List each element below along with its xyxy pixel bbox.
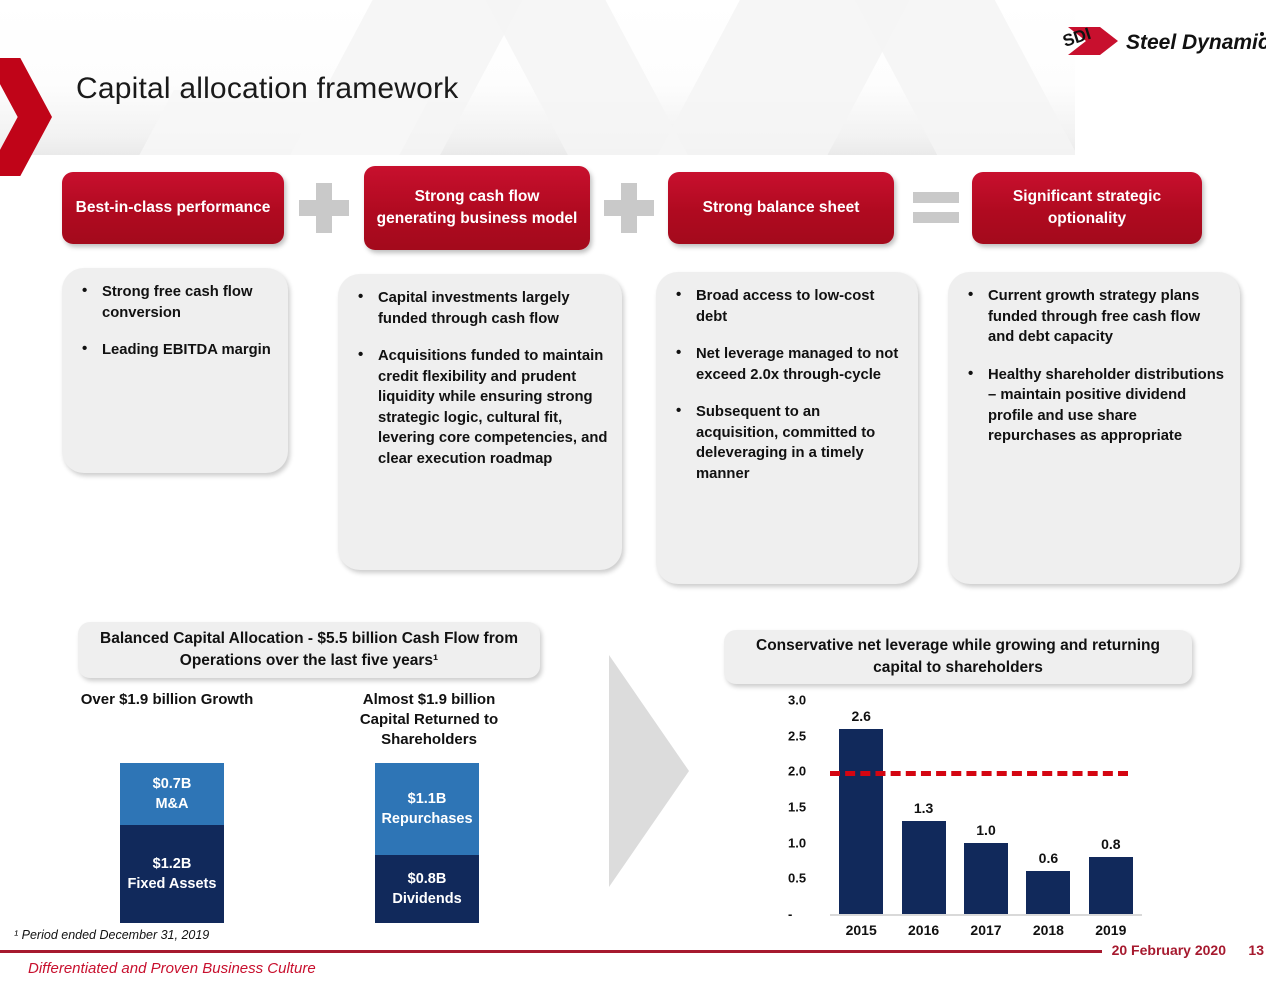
chart-y-tick-label: 2.0 — [788, 764, 806, 779]
stack-label: M&A — [155, 796, 188, 812]
page-title: Capital allocation framework — [76, 72, 458, 106]
list-item: Leading EBITDA margin — [76, 340, 276, 361]
bullet-list-1: Strong free cash flow conversion Leading… — [76, 282, 276, 361]
chart-bar-value: 0.8 — [1081, 836, 1141, 852]
framework-box-best-in-class[interactable]: Best-in-class performance — [62, 172, 284, 244]
bullet-card-2: Capital investments largely funded throu… — [338, 274, 622, 570]
bullet-list-4: Current growth strategy plans funded thr… — [962, 286, 1228, 447]
bullet-card-4: Current growth strategy plans funded thr… — [948, 272, 1240, 584]
chart-x-axis — [830, 914, 1142, 916]
chart-bar-value: 2.6 — [831, 708, 891, 724]
stack-amount: $0.8B — [408, 871, 447, 887]
framework-box-strong-balance-sheet[interactable]: Strong balance sheet — [668, 172, 894, 244]
stacked-bar-returned: $1.1B Repurchases $0.8B Dividends — [375, 763, 479, 923]
allocation-heading: Balanced Capital Allocation - $5.5 billi… — [78, 622, 540, 678]
right-arrow-icon — [609, 655, 689, 887]
stack-label: Repurchases — [381, 811, 472, 827]
stacked-bar-growth: $0.7B M&A $1.2B Fixed Assets — [120, 763, 224, 923]
plus-icon-2 — [604, 183, 654, 233]
slide-root: Capital allocation framework SDI Steel D… — [0, 0, 1280, 989]
stack-label: Fixed Assets — [128, 876, 217, 892]
watermark-chevron-4 — [839, 0, 1075, 155]
chart-y-tick-label: 1.5 — [788, 800, 806, 815]
list-item: Broad access to low-cost debt — [670, 286, 906, 327]
footer-date: 20 February 2020 — [1112, 942, 1226, 958]
allocation-column-title-growth: Over $1.9 billion Growth — [78, 690, 256, 710]
stack-segment-dividends: $0.8B Dividends — [375, 855, 479, 923]
chart-plot-area: 2.61.31.00.60.8 — [830, 700, 1142, 914]
chart-bar: 0.6 — [1026, 871, 1070, 914]
stack-label: Dividends — [392, 891, 461, 907]
chart-target-line — [830, 771, 1128, 776]
stack-amount: $1.1B — [408, 791, 447, 807]
list-item: Current growth strategy plans funded thr… — [962, 286, 1228, 348]
footer-tagline: Differentiated and Proven Business Cultu… — [28, 960, 316, 977]
chart-y-tick-label: 0.5 — [788, 871, 806, 886]
chart-x-tick-label: 2015 — [831, 922, 891, 938]
list-item: Strong free cash flow conversion — [76, 282, 276, 323]
allocation-column-title-returned: Almost $1.9 billion Capital Returned to … — [340, 690, 518, 750]
chart-bar: 1.0 — [964, 843, 1008, 914]
chart-x-tick-label: 2019 — [1081, 922, 1141, 938]
chart-x-tick-label: 2018 — [1018, 922, 1078, 938]
list-item: Net leverage managed to not exceed 2.0x … — [670, 344, 906, 385]
bullet-card-3: Broad access to low-cost debt Net levera… — [656, 272, 918, 584]
bullet-card-1: Strong free cash flow conversion Leading… — [62, 268, 288, 473]
chart-bar: 1.3 — [902, 821, 946, 914]
chart-bar-value: 0.6 — [1018, 850, 1078, 866]
stack-segment-fixed-assets: $1.2B Fixed Assets — [120, 825, 224, 923]
list-item: Subsequent to an acquisition, committed … — [670, 402, 906, 484]
leverage-bar-chart: 2.61.31.00.60.8 3.02.52.01.51.00.5- 2015… — [782, 700, 1142, 938]
footer-page-number: 13 — [1248, 942, 1264, 958]
chart-x-tick-label: 2017 — [956, 922, 1016, 938]
chart-bar: 2.6 — [839, 729, 883, 914]
chart-y-tick-label: - — [788, 907, 792, 922]
list-item: Acquisitions funded to maintain credit f… — [352, 346, 610, 469]
bullet-list-2: Capital investments largely funded throu… — [352, 288, 610, 469]
stack-amount: $1.2B — [153, 856, 192, 872]
list-item: Capital investments largely funded throu… — [352, 288, 610, 329]
chart-bar-value: 1.3 — [894, 800, 954, 816]
stack-segment-repurchases: $1.1B Repurchases — [375, 763, 479, 855]
chart-y-tick-label: 2.5 — [788, 728, 806, 743]
framework-box-strategic-optionality[interactable]: Significant strategic optionality — [972, 172, 1202, 244]
bullet-list-3: Broad access to low-cost debt Net levera… — [670, 286, 906, 484]
leverage-heading: Conservative net leverage while growing … — [724, 630, 1192, 684]
sdi-logo-icon: SDI Steel Dynamics, Inc. — [1060, 19, 1266, 63]
svg-text:Steel Dynamics, Inc.: Steel Dynamics, Inc. — [1126, 31, 1266, 54]
framework-box-strong-cash-flow[interactable]: Strong cash flow generating business mod… — [364, 166, 590, 250]
chart-x-tick-label: 2016 — [894, 922, 954, 938]
equals-icon — [913, 192, 959, 226]
chart-bar: 0.8 — [1089, 857, 1133, 914]
chart-y-tick-label: 1.0 — [788, 835, 806, 850]
chart-y-tick-label: 3.0 — [788, 693, 806, 708]
stack-amount: $0.7B — [153, 776, 192, 792]
list-item: Healthy shareholder distributions – main… — [962, 365, 1228, 447]
stack-segment-ma: $0.7B M&A — [120, 763, 224, 825]
company-logo: SDI Steel Dynamics, Inc. — [1060, 18, 1266, 64]
plus-icon-1 — [299, 183, 349, 233]
footer-rule — [0, 950, 1102, 953]
chart-bar-value: 1.0 — [956, 822, 1016, 838]
footnote: ¹ Period ended December 31, 2019 — [14, 928, 209, 942]
